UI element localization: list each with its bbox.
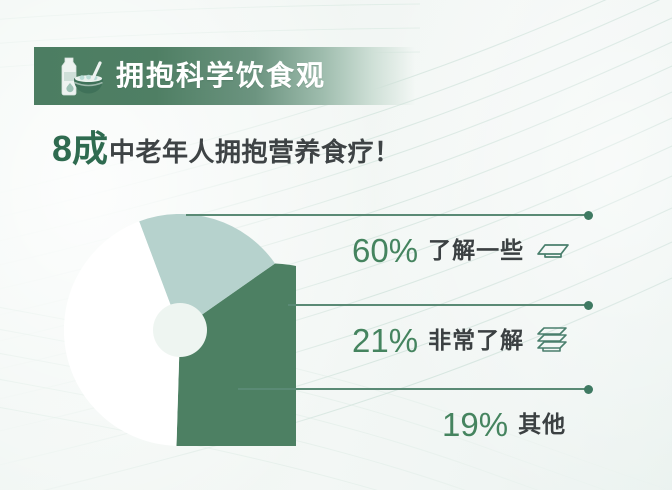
stacked-books-icon <box>536 326 568 356</box>
callout-text: 21% 非常了解 <box>352 324 568 357</box>
single-book-icon <box>536 241 570 261</box>
subtitle: 8成 中老年人拥抱营养食疗！ <box>52 131 401 167</box>
header-banner: 拥抱科学饮食观 <box>34 47 415 105</box>
callout-text: 60% 了解一些 <box>352 234 570 267</box>
callout-dot <box>584 301 593 310</box>
subtitle-lead: 8成 <box>52 131 108 167</box>
donut-chart <box>64 214 296 446</box>
donut-center-hole <box>153 303 207 357</box>
donut-chart-svg <box>64 214 296 446</box>
infographic-canvas: 拥抱科学饮食观 8成 中老年人拥抱营养食疗！ 60% 了解一些 <box>0 0 672 490</box>
callout-line <box>186 214 588 216</box>
callout-percent: 19% <box>442 408 508 441</box>
callout-text: 19% 其他 <box>442 408 566 441</box>
subtitle-rest: 中老年人拥抱营养食疗！ <box>109 139 401 165</box>
callout-dot <box>584 211 593 220</box>
banner-title: 拥抱科学饮食观 <box>116 62 326 90</box>
callout-percent: 60% <box>352 234 418 267</box>
callout-label: 其他 <box>518 413 566 436</box>
callout-line <box>238 388 588 390</box>
callout-percent: 21% <box>352 324 418 357</box>
milk-bottle-and-cereal-bowl-icon <box>50 54 106 98</box>
callout-line <box>288 304 588 306</box>
callout-label: 非常了解 <box>428 329 524 352</box>
callout-label: 了解一些 <box>428 239 524 262</box>
callout-dot <box>584 385 593 394</box>
